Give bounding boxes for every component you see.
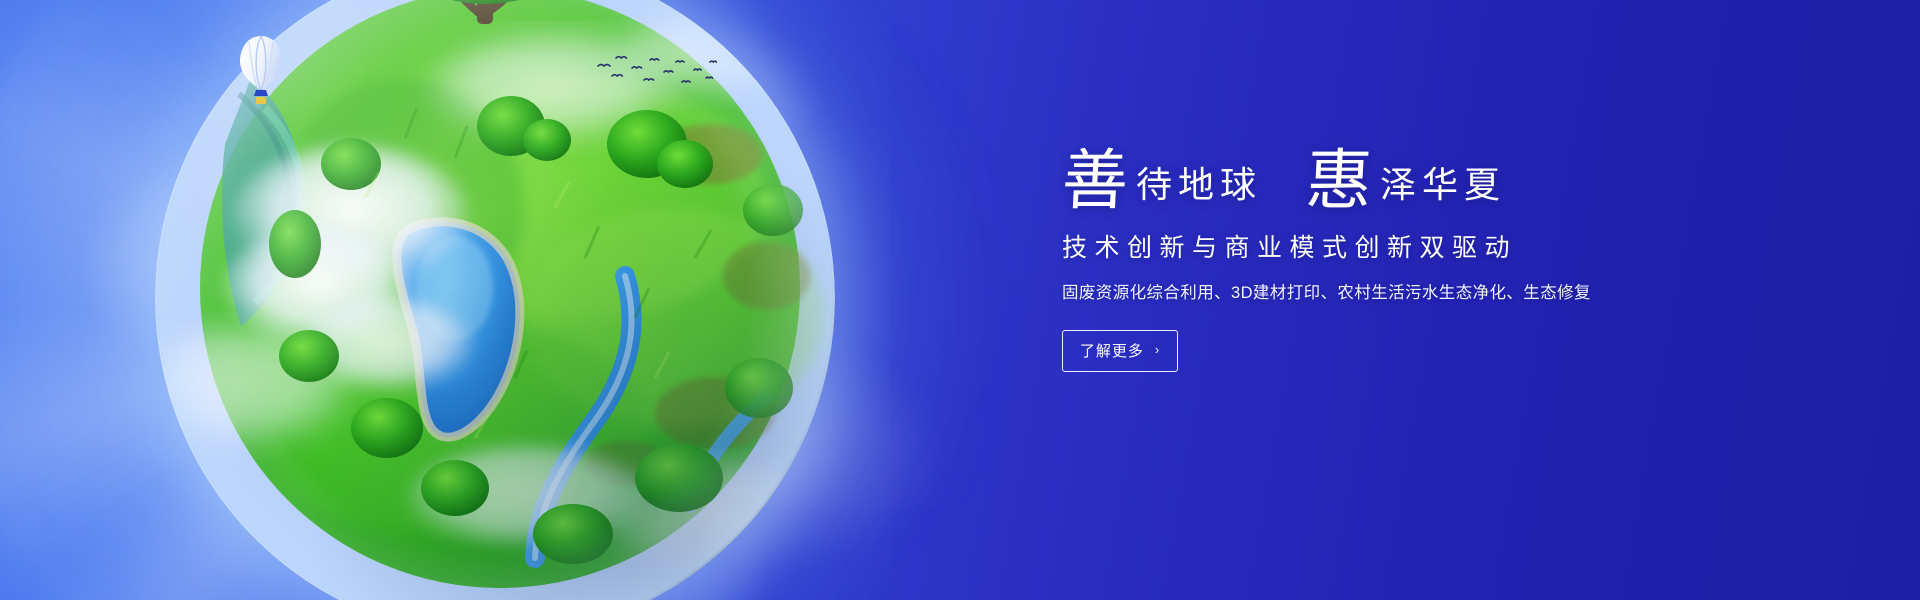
headline-part2-small: 泽华夏 — [1372, 168, 1506, 204]
learn-more-label: 了解更多 — [1080, 340, 1144, 361]
hot-air-balloon-icon — [238, 34, 284, 108]
chevron-right-icon: › — [1155, 343, 1160, 356]
hero-banner: 善 待地球 惠 泽华夏 技术创新与商业模式创新双驱动 固废资源化综合利用、3D建… — [0, 0, 1920, 600]
sky-glow — [0, 0, 990, 600]
banner-content: 善 待地球 惠 泽华夏 技术创新与商业模式创新双驱动 固废资源化综合利用、3D建… — [1062, 132, 1682, 372]
headline-part1-big: 善 — [1060, 148, 1129, 214]
learn-more-button[interactable]: 了解更多 › — [1062, 330, 1178, 372]
banner-description: 固废资源化综合利用、3D建材打印、农村生活污水生态净化、生态修复 — [1062, 282, 1682, 305]
banner-subtitle: 技术创新与商业模式创新双驱动 — [1062, 232, 1682, 265]
cloud-wisp-icon — [620, 330, 940, 570]
headline-part2-big: 惠 — [1304, 148, 1373, 214]
bird-flock-icon — [592, 50, 722, 92]
large-tree-icon — [381, 0, 595, 24]
cloud-wisp-icon — [150, 330, 450, 530]
headline-part1-small: 待地球 — [1128, 168, 1262, 204]
cloud-wisp-icon — [560, 20, 820, 170]
headline: 善 待地球 惠 泽华夏 — [1062, 132, 1682, 210]
cloud-wisp-icon — [80, 150, 410, 380]
